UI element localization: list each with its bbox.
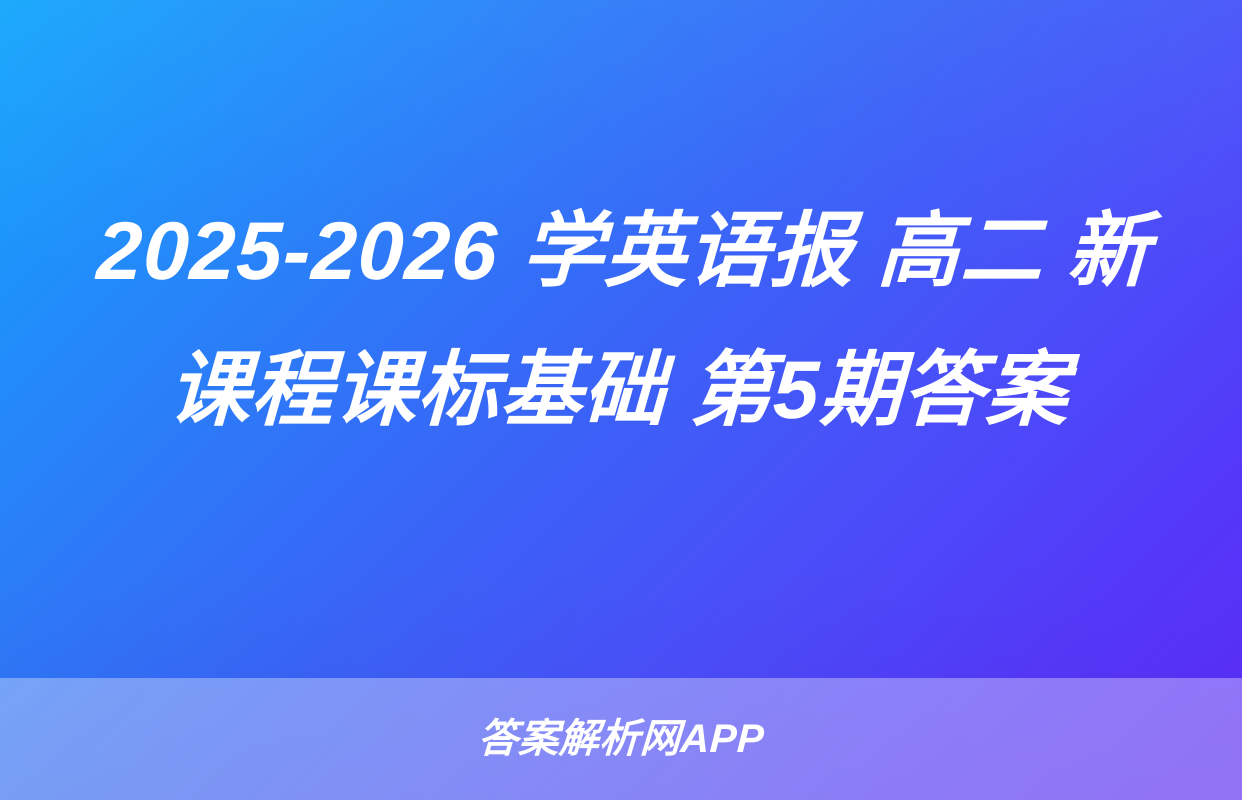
- page-title: 2025-2026 学英语报 高二 新课程课标基础 第5期答案: [51, 182, 1191, 460]
- footer-brand-label: 答案解析网APP: [477, 719, 765, 759]
- poster-title-block: 2025-2026 学英语报 高二 新课程课标基础 第5期答案: [0, 182, 1242, 460]
- poster-canvas: 2025-2026 学英语报 高二 新课程课标基础 第5期答案 答案解析网APP: [0, 0, 1242, 800]
- footer-brand-band: 答案解析网APP: [0, 678, 1242, 800]
